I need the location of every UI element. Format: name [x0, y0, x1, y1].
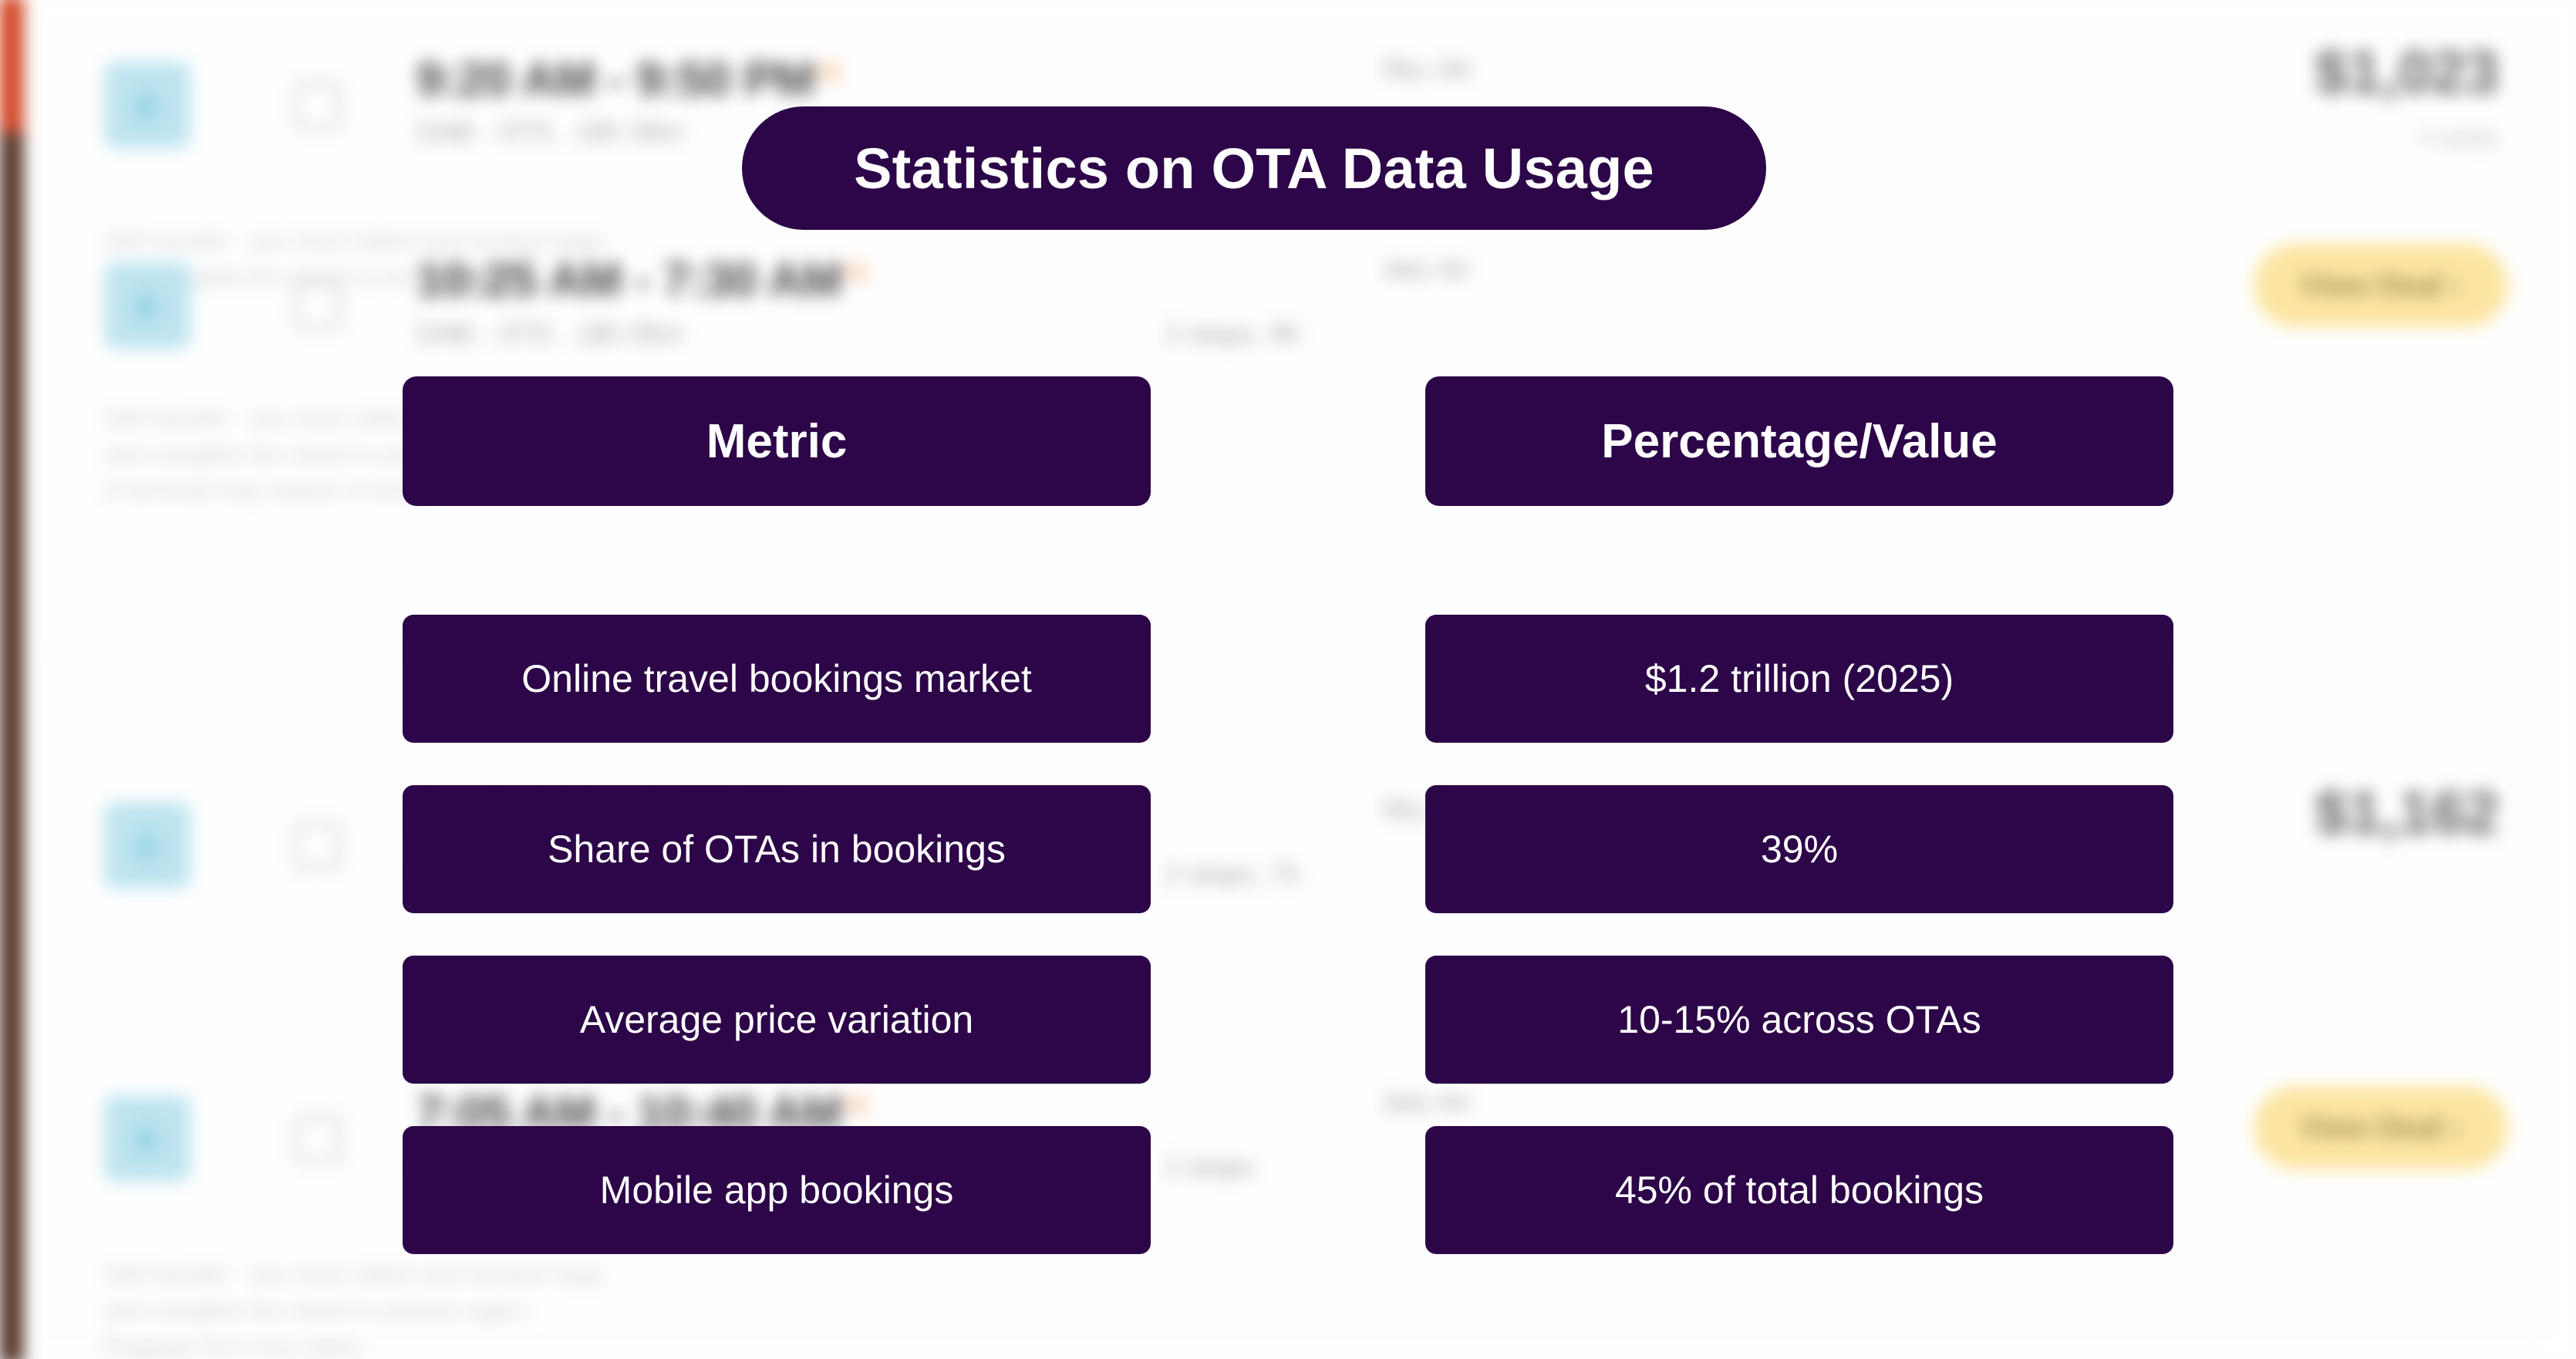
table-cell-value: 45% of total bookings	[1615, 1168, 1984, 1212]
table-row: 10-15% across OTAs	[1425, 956, 2173, 1084]
page-title-text: Statistics on OTA Data Usage	[854, 136, 1654, 201]
table-header-value: Percentage/Value	[1425, 376, 2173, 506]
table-row: 39%	[1425, 785, 2173, 913]
stats-overlay: Statistics on OTA Data Usage Metric Perc…	[0, 0, 2576, 1359]
table-row: 45% of total bookings	[1425, 1126, 2173, 1254]
table-cell-metric: Online travel bookings market	[521, 656, 1031, 701]
table-cell-metric: Share of OTAs in bookings	[548, 827, 1006, 872]
table-row: Mobile app bookings	[403, 1126, 1151, 1254]
table-header-value-label: Percentage/Value	[1601, 414, 1998, 469]
table-cell-value: 10-15% across OTAs	[1617, 997, 1981, 1042]
table-row: $1.2 trillion (2025)	[1425, 615, 2173, 743]
table-cell-metric: Mobile app bookings	[600, 1168, 954, 1212]
table-row: Online travel bookings market	[403, 615, 1151, 743]
table-row: Average price variation	[403, 956, 1151, 1084]
table-header-metric: Metric	[403, 376, 1151, 506]
table-cell-value: $1.2 trillion (2025)	[1645, 656, 1954, 701]
screenshot-canvas: 9:20 AM - 9:50 PM+1 DAB - STS . 16h 30m …	[0, 0, 2576, 1359]
table-cell-value: 39%	[1761, 827, 1838, 872]
table-row: Share of OTAs in bookings	[403, 785, 1151, 913]
table-cell-metric: Average price variation	[580, 997, 973, 1042]
table-header-metric-label: Metric	[706, 414, 848, 469]
page-title: Statistics on OTA Data Usage	[742, 106, 1766, 230]
